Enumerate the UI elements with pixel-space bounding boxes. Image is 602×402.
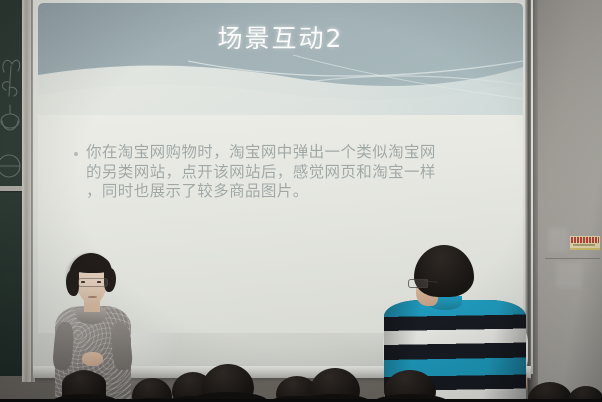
wall-sign-stripes (571, 237, 599, 243)
chalk-drawing-icon (0, 0, 24, 200)
slide-title: 场景互动2 (38, 19, 523, 55)
wall-seam (545, 258, 600, 259)
slide-body-text: 你在淘宝网购物时，淘宝网中弹出一个类似淘宝网 的另类网站，点开该网站后，感觉网页… (74, 143, 494, 202)
chalkboard-frame (22, 0, 31, 382)
presenter-eye (81, 281, 85, 283)
bullet-item: 你在淘宝网购物时，淘宝网中弹出一个类似淘宝网 (74, 143, 494, 163)
bullet-line: ，同时也展示了较多商品图片。 (74, 182, 494, 202)
bullet-line: 的另类网站，点开该网站后，感觉网页和淘宝一样 (74, 163, 494, 183)
bullet-dot-icon (74, 152, 78, 156)
wall-sign (570, 236, 600, 250)
presenter-mouth (88, 296, 97, 298)
presenter-hands (82, 352, 103, 366)
wall-scuff (548, 228, 568, 252)
classroom-photo: 场景互动2 你在淘宝网购物时，淘宝网中弹出一个类似淘宝网 的另类网站，点开该网站… (0, 0, 602, 402)
slide-header-band: 场景互动2 (38, 3, 523, 115)
chalkboard-divider (0, 186, 24, 191)
right-wall (528, 0, 602, 402)
presenter-eye (97, 281, 101, 283)
wall-sign-subtext (573, 244, 595, 246)
bullet-line: 你在淘宝网购物时，淘宝网中弹出一个类似淘宝网 (86, 143, 436, 163)
wall-scuff (556, 262, 582, 288)
